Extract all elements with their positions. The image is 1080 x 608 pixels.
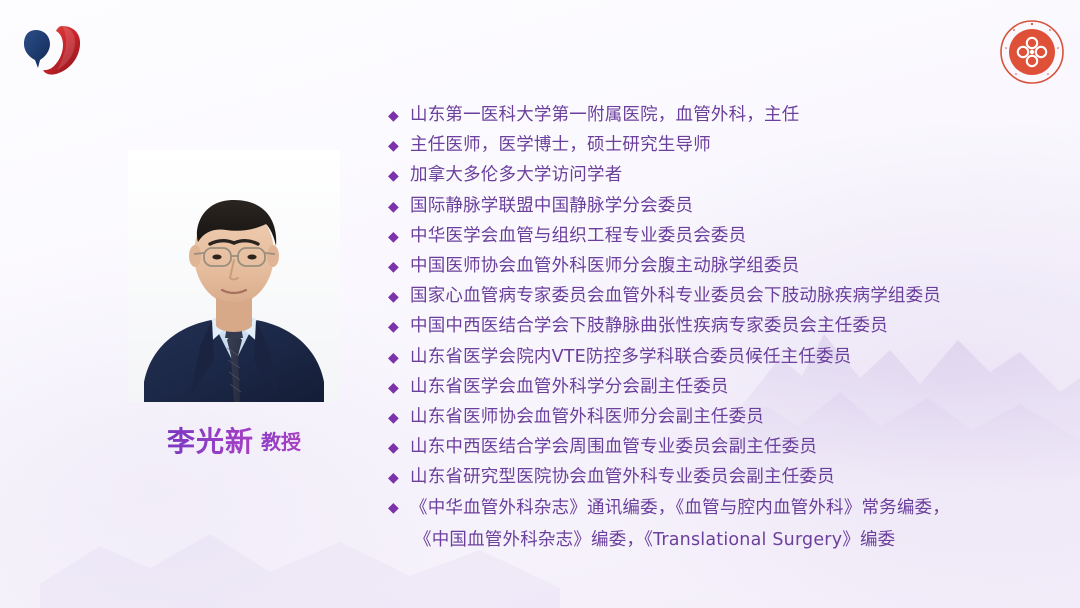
diamond-bullet-icon: ◆ bbox=[388, 281, 410, 311]
list-item-label: 加拿大多伦多大学访问学者 bbox=[410, 160, 622, 190]
list-item-label: 山东省医学会院内VTE防控多学科联合委员候任主任委员 bbox=[410, 342, 851, 372]
diamond-bullet-icon: ◆ bbox=[388, 492, 410, 522]
list-item: ◆ 国际静脉学联盟中国静脉学分会委员 bbox=[388, 191, 1060, 221]
journal-line-1: 《中华血管外科杂志》通讯编委，《血管与腔内血管外科》常务编委， bbox=[410, 498, 950, 518]
vessel-drop-logo-icon bbox=[18, 18, 86, 80]
list-item-label-journals: 《中华血管外科杂志》通讯编委，《血管与腔内血管外科》常务编委， 《中国血管外科杂… bbox=[410, 492, 950, 556]
person-title: 教授 bbox=[261, 430, 301, 454]
person-name-line: 李光新教授 bbox=[128, 428, 340, 456]
person-name: 李光新 bbox=[167, 425, 254, 458]
list-item-label: 国际静脉学联盟中国静脉学分会委员 bbox=[410, 191, 693, 221]
list-item: ◆ 加拿大多伦多大学访问学者 bbox=[388, 160, 1060, 190]
diamond-bullet-icon: ◆ bbox=[388, 462, 410, 492]
diamond-bullet-icon: ◆ bbox=[388, 191, 410, 221]
list-item: ◆ 山东省医学会血管外科学分会副主任委员 bbox=[388, 372, 1060, 402]
list-item: ◆ 《中华血管外科杂志》通讯编委，《血管与腔内血管外科》常务编委， 《中国血管外… bbox=[388, 492, 1060, 556]
circular-seal-logo-icon bbox=[998, 18, 1066, 86]
list-item: ◆ 山东省研究型医院协会血管外科专业委员会副主任委员 bbox=[388, 462, 1060, 492]
list-item-label: 山东第一医科大学第一附属医院，血管外科，主任 bbox=[410, 100, 799, 130]
diamond-bullet-icon: ◆ bbox=[388, 251, 410, 281]
diamond-bullet-icon: ◆ bbox=[388, 311, 410, 341]
diamond-bullet-icon: ◆ bbox=[388, 372, 410, 402]
list-item: ◆ 中国中西医结合学会下肢静脉曲张性疾病专家委员会主任委员 bbox=[388, 311, 1060, 341]
list-item: ◆ 山东第一医科大学第一附属医院，血管外科，主任 bbox=[388, 100, 1060, 130]
journal-line-2: 《中国血管外科杂志》编委，《Translational Surgery》编委 bbox=[410, 524, 950, 556]
list-item: ◆ 主任医师，医学博士，硕士研究生导师 bbox=[388, 130, 1060, 160]
diamond-bullet-icon: ◆ bbox=[388, 342, 410, 372]
diamond-bullet-icon: ◆ bbox=[388, 160, 410, 190]
portrait-block: 李光新教授 bbox=[128, 150, 340, 456]
diamond-bullet-icon: ◆ bbox=[388, 402, 410, 432]
list-item: ◆ 中华医学会血管与组织工程专业委员会委员 bbox=[388, 221, 1060, 251]
list-item-label: 山东中西医结合学会周围血管专业委员会副主任委员 bbox=[410, 432, 817, 462]
list-item: ◆ 山东省医师协会血管外科医师分会副主任委员 bbox=[388, 402, 1060, 432]
credentials-list: ◆ 山东第一医科大学第一附属医院，血管外科，主任 ◆ 主任医师，医学博士，硕士研… bbox=[388, 100, 1060, 556]
diamond-bullet-icon: ◆ bbox=[388, 100, 410, 130]
list-item: ◆ 中国医师协会血管外科医师分会腹主动脉学组委员 bbox=[388, 251, 1060, 281]
list-item: ◆ 山东中西医结合学会周围血管专业委员会副主任委员 bbox=[388, 432, 1060, 462]
slide-canvas: 李光新教授 ◆ 山东第一医科大学第一附属医院，血管外科，主任 ◆ 主任医师，医学… bbox=[0, 0, 1080, 608]
list-item-label: 山东省医学会血管外科学分会副主任委员 bbox=[410, 372, 729, 402]
list-item-label: 中华医学会血管与组织工程专业委员会委员 bbox=[410, 221, 746, 251]
diamond-bullet-icon: ◆ bbox=[388, 221, 410, 251]
list-item: ◆ 国家心血管病专家委员会血管外科专业委员会下肢动脉疾病学组委员 bbox=[388, 281, 1060, 311]
diamond-bullet-icon: ◆ bbox=[388, 130, 410, 160]
list-item: ◆ 山东省医学会院内VTE防控多学科联合委员候任主任委员 bbox=[388, 342, 1060, 372]
list-item-label: 国家心血管病专家委员会血管外科专业委员会下肢动脉疾病学组委员 bbox=[410, 281, 941, 311]
list-item-label: 山东省研究型医院协会血管外科专业委员会副主任委员 bbox=[410, 462, 835, 492]
diamond-bullet-icon: ◆ bbox=[388, 432, 410, 462]
list-item-label: 中国医师协会血管外科医师分会腹主动脉学组委员 bbox=[410, 251, 799, 281]
list-item-label: 山东省医师协会血管外科医师分会副主任委员 bbox=[410, 402, 764, 432]
list-item-label: 主任医师，医学博士，硕士研究生导师 bbox=[410, 130, 711, 160]
portrait-photo bbox=[128, 150, 340, 402]
list-item-label: 中国中西医结合学会下肢静脉曲张性疾病专家委员会主任委员 bbox=[410, 311, 888, 341]
